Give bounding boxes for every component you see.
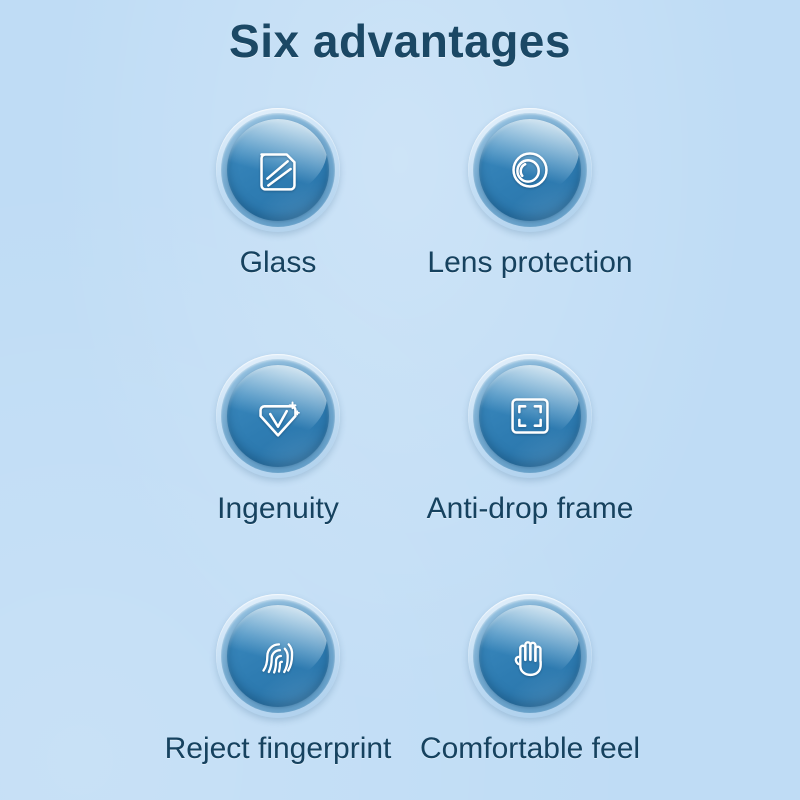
feature-card-comfortable-feel[interactable]: Comfortable feel <box>400 594 660 766</box>
feature-badge[interactable] <box>216 108 340 232</box>
feature-badge[interactable] <box>216 354 340 478</box>
camera-lens-icon <box>479 119 581 221</box>
feature-card-reject-fingerprint[interactable]: Reject fingerprint <box>148 594 408 766</box>
feature-label: Anti-drop frame <box>400 492 660 526</box>
feature-label: Lens protection <box>400 246 660 280</box>
feature-badge[interactable] <box>216 594 340 718</box>
feature-label: Reject fingerprint <box>148 732 408 766</box>
feature-card-glass[interactable]: Glass <box>148 108 408 280</box>
feature-label: Comfortable feel <box>400 732 660 766</box>
feature-badge[interactable] <box>468 108 592 232</box>
gem-check-icon <box>227 365 329 467</box>
advantages-grid: Glass Lens protection <box>0 108 800 800</box>
feature-card-ingenuity[interactable]: Ingenuity <box>148 354 408 526</box>
feature-badge[interactable] <box>468 594 592 718</box>
feature-card-lens-protection[interactable]: Lens protection <box>400 108 660 280</box>
hand-palm-icon <box>479 605 581 707</box>
glass-screen-protector-icon <box>227 119 329 221</box>
feature-badge[interactable] <box>468 354 592 478</box>
feature-label: Glass <box>148 246 408 280</box>
fingerprint-icon <box>227 605 329 707</box>
corner-frame-icon <box>479 365 581 467</box>
feature-card-anti-drop-frame[interactable]: Anti-drop frame <box>400 354 660 526</box>
feature-label: Ingenuity <box>148 492 408 526</box>
page-title: Six advantages <box>0 14 800 68</box>
